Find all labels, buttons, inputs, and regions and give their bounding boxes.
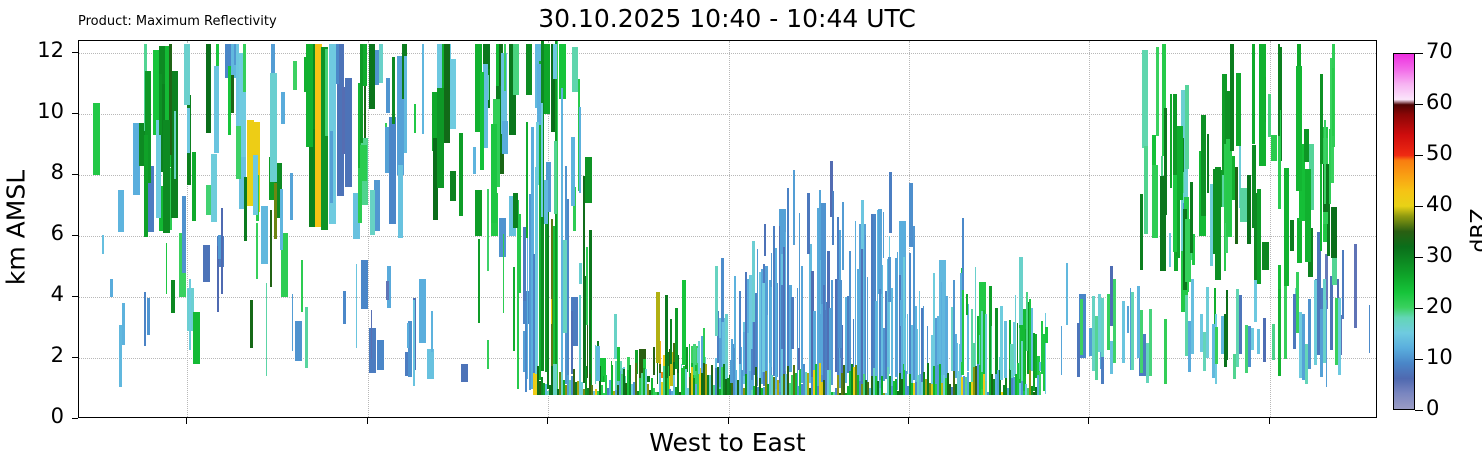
x-axis-label: West to East [78,428,1377,457]
reflectivity-bar [838,280,842,348]
reflectivity-bar [734,276,736,348]
reflectivity-bar [301,260,303,312]
reflectivity-bar [110,279,113,298]
reflectivity-bar [1215,327,1218,364]
reflectivity-bar [888,257,891,302]
reflectivity-bar [413,300,415,386]
reflectivity-bar [764,224,766,256]
reflectivity-bar [503,234,504,313]
reflectivity-bar [1080,299,1083,354]
reflectivity-bar [1297,218,1302,263]
reflectivity-bar [144,292,146,345]
reflectivity-bar [867,277,868,385]
reflectivity-bar [526,44,532,95]
reflectivity-bar [1254,278,1257,322]
reflectivity-bar [361,260,368,309]
reflectivity-bar [244,177,247,242]
reflectivity-bar [360,44,363,143]
reflectivity-bar [1113,279,1116,363]
reflectivity-bar [842,202,844,270]
y-tick-mark [72,296,78,297]
reflectivity-bar [102,235,104,254]
colorbar-tick-label: 60 [1426,90,1453,114]
reflectivity-bar [437,88,444,188]
reflectivity-bar [189,279,191,350]
reflectivity-bar [1290,220,1294,251]
reflectivity-bar [657,362,658,385]
reflectivity-bar [1160,176,1166,270]
reflectivity-bar [270,210,272,287]
reflectivity-bar [385,127,389,173]
reflectivity-bar [1329,129,1331,204]
reflectivity-bar [483,64,488,148]
reflectivity-bar [444,44,450,143]
reflectivity-bar [1278,289,1281,376]
reflectivity-bar [1164,319,1167,384]
reflectivity-bar [174,111,176,179]
reflectivity-bar [1230,44,1234,151]
reflectivity-bar [1331,207,1337,258]
reflectivity-bar [325,49,328,137]
reflectivity-bar [459,133,463,215]
reflectivity-bar [1252,44,1255,144]
x-tick-mark [547,418,548,424]
reflectivity-bar [1152,165,1158,238]
reflectivity-bar [513,193,518,228]
reflectivity-bar [236,126,241,179]
reflectivity-bar [1330,276,1333,350]
reflectivity-bar [386,78,390,113]
reflectivity-bar [1278,44,1280,136]
reflectivity-bar [743,332,745,377]
reflectivity-bar [1226,139,1232,237]
reflectivity-bar [797,288,798,392]
reflectivity-bar [496,44,499,86]
reflectivity-bar [1004,321,1007,378]
reflectivity-bar [1177,126,1183,200]
reflectivity-bar [865,235,866,383]
reflectivity-bar [523,227,526,301]
reflectivity-bar [1236,73,1241,147]
reflectivity-bar [1201,115,1206,217]
reflectivity-bar [163,120,170,233]
reflectivity-bar [270,73,277,182]
reflectivity-bar [281,92,285,124]
colorbar-tick-mark [1415,308,1423,309]
reflectivity-bar [1190,182,1193,253]
reflectivity-bar [730,360,733,383]
reflectivity-bar [721,258,724,322]
reflectivity-bar [820,260,821,315]
reflectivity-bar [571,137,575,206]
reflectivity-bar [551,299,552,324]
reflectivity-bar [554,141,557,214]
reflectivity-bar [617,347,620,381]
reflectivity-bar [879,289,881,380]
reflectivity-bar [567,199,569,389]
reflectivity-bar [791,297,794,348]
reflectivity-bar [1271,135,1277,162]
plot-area [78,40,1377,418]
reflectivity-bar [937,316,939,372]
reflectivity-bar [1170,94,1172,188]
colorbar-tick-label: 50 [1426,141,1453,165]
reflectivity-bar [781,285,783,349]
reflectivity-bar [807,193,810,254]
reflectivity-bar [336,44,339,84]
reflectivity-bar [218,235,221,259]
reflectivity-bar [414,104,416,133]
colorbar-tick-mark [1415,155,1423,156]
reflectivity-bar [491,124,497,223]
reflectivity-bar [513,44,519,95]
radar-cross-section-figure: Product: Maximum Reflectivity 30.10.2025… [0,0,1482,470]
reflectivity-bar [261,206,268,264]
reflectivity-bar [909,183,913,247]
reflectivity-bar [1247,175,1251,244]
reflectivity-bar [419,279,426,343]
reflectivity-bar [762,283,765,372]
reflectivity-bar [1369,305,1370,353]
reflectivity-bar [1061,326,1062,375]
reflectivity-bar [184,44,190,105]
reflectivity-bar [1144,146,1148,234]
colorbar-tick-mark [1415,257,1423,258]
reflectivity-bar [596,346,600,382]
reflectivity-bar [502,121,508,154]
reflectivity-bar [727,341,728,381]
reflectivity-bar [547,200,549,389]
y-tick-label: 12 [20,38,64,62]
reflectivity-bar [665,295,668,378]
reflectivity-bar [431,311,433,352]
reflectivity-bar [579,107,581,193]
reflectivity-bar [371,310,372,359]
reflectivity-bar [752,241,755,322]
y-tick-mark [72,357,78,358]
reflectivity-bar [1239,295,1242,354]
reflectivity-bar [941,282,942,375]
reflectivity-bar [1262,242,1269,270]
reflectivity-bar [579,263,582,284]
reflectivity-bar [1304,129,1309,163]
reflectivity-bar [770,287,772,367]
reflectivity-bar [698,341,700,374]
reflectivity-bar [1268,94,1271,136]
reflectivity-bar [1278,265,1281,291]
reflectivity-bar [647,376,650,382]
reflectivity-bar [656,292,660,364]
colorbar-tick-label: 30 [1426,243,1453,267]
reflectivity-bar [825,258,826,310]
reflectivity-bar [193,312,200,364]
reflectivity-bar [1284,285,1287,359]
reflectivity-bar [253,155,258,215]
colorbar-tick-mark [1415,104,1423,105]
page-title-text: 30.10.2025 10:40 - 10:44 UTC [538,4,916,33]
reflectivity-bar [369,44,375,109]
colorbar-tick-label: 70 [1426,39,1453,63]
reflectivity-bar [407,323,409,348]
reflectivity-bar [342,87,345,154]
reflectivity-bar [1215,167,1221,280]
reflectivity-bar [203,245,210,282]
reflectivity-bar [832,191,834,244]
reflectivity-bar [1140,194,1143,270]
reflectivity-bar [250,300,253,349]
reflectivity-bar [1045,327,1048,343]
reflectivity-bar [236,44,239,126]
reflectivity-bar [526,122,528,238]
colorbar-gradient [1393,53,1415,410]
reflectivity-bar [450,171,456,200]
reflectivity-bar [614,314,617,359]
y-tick-mark [72,174,78,175]
reflectivity-bar [777,283,778,377]
reflectivity-bar [1326,300,1327,388]
reflectivity-bar [831,280,833,385]
reflectivity-bar [144,135,148,237]
reflectivity-bar [1101,298,1104,357]
reflectivity-bar [571,311,573,374]
reflectivity-bar [855,221,856,373]
colorbar [1393,53,1415,410]
reflectivity-bar [356,264,357,348]
reflectivity-bar [1191,279,1194,354]
reflectivity-bar [292,294,293,351]
reflectivity-columns [79,41,1376,417]
reflectivity-bar [478,239,480,323]
reflectivity-bar [878,209,882,295]
reflectivity-bar [1293,294,1296,349]
reflectivity-bar [256,223,258,278]
reflectivity-bar [461,364,468,382]
reflectivity-bar [192,152,196,221]
reflectivity-bar [891,288,893,393]
x-tick-mark [1088,418,1089,424]
colorbar-tick-label: 20 [1426,294,1453,318]
reflectivity-bar [266,283,267,376]
reflectivity-bar [603,376,604,382]
reflectivity-bar [1156,47,1159,136]
reflectivity-bar [363,44,367,86]
y-tick-mark [72,113,78,114]
reflectivity-bar [369,328,376,374]
reflectivity-bar [907,314,908,374]
colorbar-tick-label: 0 [1426,396,1439,420]
reflectivity-bar [1169,233,1171,266]
reflectivity-bar [883,212,884,258]
reflectivity-bar [561,88,563,379]
reflectivity-bar [386,281,389,300]
reflectivity-bar [689,344,690,377]
y-tick-label: 0 [20,404,64,428]
reflectivity-bar [187,108,190,153]
reflectivity-bar [861,200,864,249]
reflectivity-bar [1221,316,1224,354]
reflectivity-bar [527,237,528,379]
reflectivity-bar [541,103,543,217]
reflectivity-bar [1296,66,1302,191]
reflectivity-bar [1354,244,1357,328]
reflectivity-bar [1308,299,1311,369]
reflectivity-bar [544,180,548,223]
reflectivity-bar [147,298,150,335]
reflectivity-bar [1142,50,1148,147]
reflectivity-bar [504,44,506,91]
reflectivity-bar [757,249,758,377]
reflectivity-bar [305,307,308,368]
reflectivity-bar [304,57,308,92]
reflectivity-bar [1045,313,1046,394]
reflectivity-bar [206,44,211,133]
reflectivity-bar [243,44,246,92]
reflectivity-bar [475,190,482,236]
reflectivity-bar [585,157,592,203]
reflectivity-bar [901,274,902,379]
reflectivity-bar [1149,309,1152,376]
reflectivity-bar [274,183,277,239]
reflectivity-bar [1342,250,1344,319]
reflectivity-bar [1324,120,1326,204]
reflectivity-bar [785,232,786,371]
reflectivity-bar [1265,77,1266,122]
x-tick-mark [908,418,909,424]
reflectivity-bar [290,173,293,220]
reflectivity-bar [122,303,125,345]
reflectivity-bar [572,47,578,93]
colorbar-tick-mark [1415,410,1423,411]
reflectivity-bar [889,172,892,233]
y-axis-label: km AMSL [2,168,31,288]
reflectivity-bar [675,308,678,370]
reflectivity-bar [360,145,367,181]
reflectivity-bar [119,325,122,388]
y-tick-label: 2 [20,343,64,367]
reflectivity-bar [793,170,795,245]
reflectivity-bar [591,310,592,391]
x-tick-mark [367,418,368,424]
reflectivity-bar [1015,295,1016,376]
reflectivity-bar [392,57,395,124]
reflectivity-bar [1206,287,1209,358]
reflectivity-bar [379,44,383,83]
reflectivity-bar [1257,329,1260,354]
reflectivity-bar [1131,292,1134,369]
reflectivity-bar [897,252,898,390]
reflectivity-bar [1039,372,1041,395]
reflectivity-bar [513,267,515,350]
reflectivity-bar [557,40,558,390]
reflectivity-bar [1323,279,1326,363]
reflectivity-bar [370,190,375,234]
reflectivity-bar [214,66,219,153]
reflectivity-bar [682,280,686,365]
reflectivity-bar [211,154,217,222]
y-tick-label: 10 [20,99,64,123]
reflectivity-bar [798,348,800,370]
reflectivity-bar [377,340,384,370]
x-tick-mark [1269,418,1270,424]
reflectivity-bar [280,189,283,250]
reflectivity-bar [1010,344,1014,370]
reflectivity-bar [1332,68,1334,136]
reflectivity-bar [343,291,346,324]
reflectivity-bar [295,321,302,361]
reflectivity-bar [422,44,424,134]
reflectivity-bar [543,44,550,114]
reflectivity-bar [1259,214,1261,280]
colorbar-tick-mark [1415,206,1423,207]
reflectivity-bar [966,294,968,315]
reflectivity-bar [1240,188,1247,222]
reflectivity-bar [487,189,489,272]
reflectivity-bar [1019,328,1020,378]
reflectivity-bar [389,117,396,224]
colorbar-tick-label: 10 [1426,345,1453,369]
reflectivity-bar [293,61,297,90]
reflectivity-bar [919,291,920,374]
reflectivity-bar [779,226,780,382]
reflectivity-bar [171,280,175,313]
reflectivity-bar [1263,318,1266,362]
reflectivity-bar [487,340,489,369]
reflectivity-bar [917,329,918,376]
reflectivity-bar [398,165,403,238]
reflectivity-bar [586,247,588,325]
reflectivity-bar [166,243,167,294]
reflectivity-bar [1338,298,1341,375]
y-tick-mark [72,418,78,419]
reflectivity-bar [904,318,906,370]
reflectivity-bar [670,319,672,365]
reflectivity-bar [536,122,539,186]
reflectivity-bar [404,56,407,153]
reflectivity-bar [1140,310,1143,373]
reflectivity-bar [159,74,162,135]
reflectivity-bar [857,269,860,382]
reflectivity-bar [1305,169,1311,262]
x-tick-mark [186,418,187,424]
page-title: 30.10.2025 10:40 - 10:44 UTC [0,4,1482,33]
reflectivity-bar [1019,257,1023,324]
colorbar-label: dBZ [1468,190,1482,270]
colorbar-tick-mark [1415,53,1423,54]
reflectivity-bar [553,44,557,79]
reflectivity-bar [1272,324,1275,360]
reflectivity-bar [653,347,655,375]
reflectivity-bar [962,218,964,290]
reflectivity-bar [330,131,333,204]
reflectivity-bar [345,78,352,188]
reflectivity-bar [1207,134,1209,193]
reflectivity-bar [1251,328,1254,350]
reflectivity-bar [1066,263,1068,325]
reflectivity-bar [563,240,567,333]
reflectivity-bar [427,349,434,379]
x-tick-mark [728,418,729,424]
reflectivity-bar [1026,292,1028,352]
reflectivity-bar [1000,306,1003,380]
reflectivity-bar [93,103,100,175]
reflectivity-bar [715,266,718,336]
reflectivity-bar [900,300,903,325]
reflectivity-bar [118,190,124,232]
colorbar-tick-label: 40 [1426,192,1453,216]
reflectivity-bar [228,66,231,135]
reflectivity-bar [473,147,476,175]
reflectivity-bar [1122,301,1125,363]
